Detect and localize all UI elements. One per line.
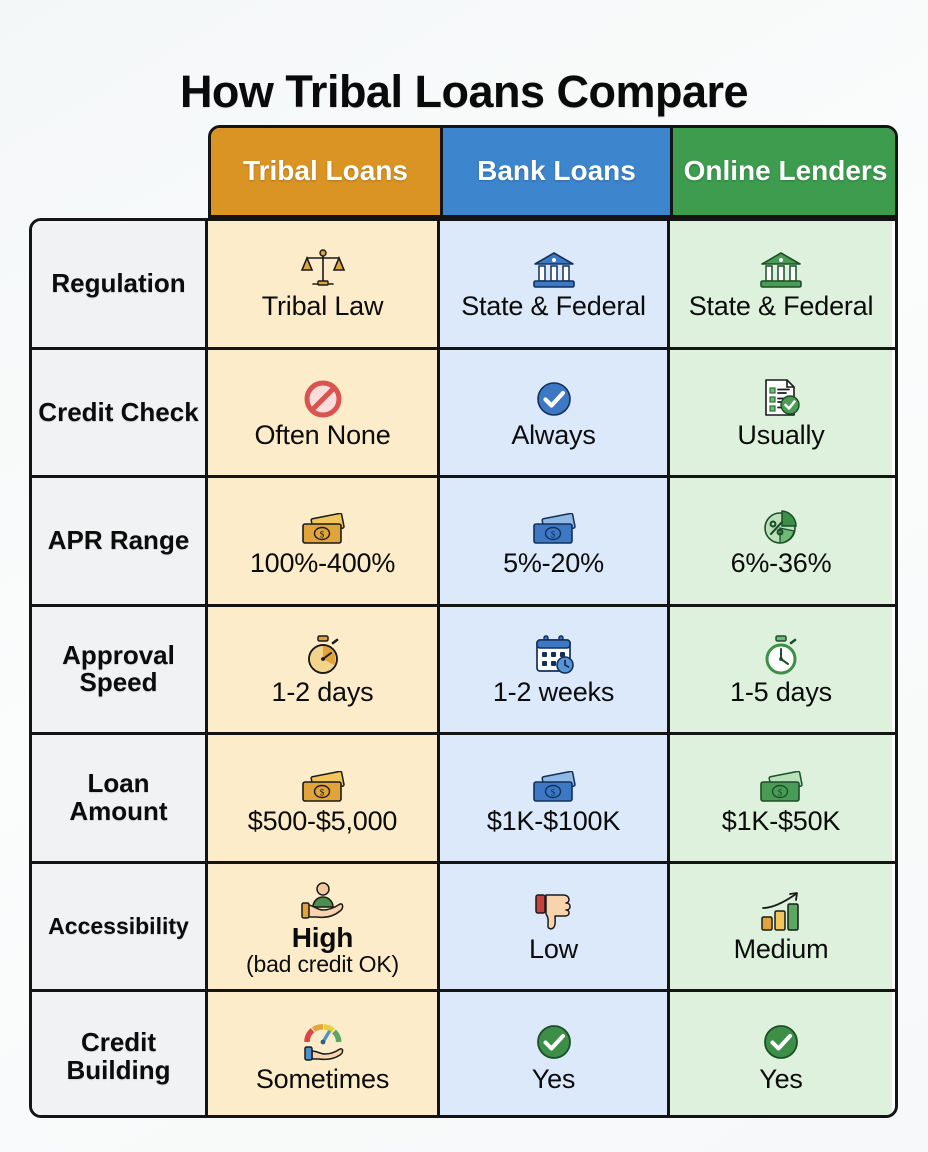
- row-label-text: Approval Speed: [37, 642, 200, 697]
- bank-building-icon: [755, 246, 807, 290]
- row-label-text: Loan Amount: [37, 770, 200, 825]
- prohibited-sign-icon: [297, 375, 349, 419]
- svg-text:$: $: [319, 530, 324, 540]
- table-row: Approval Speed 1-2 days: [32, 607, 895, 736]
- cell-value: Usually: [737, 421, 824, 450]
- cell-credit-check-bank: Always: [437, 350, 667, 476]
- banknotes-icon: $: [297, 503, 349, 547]
- cell-credit-building-tribal: Sometimes: [208, 992, 437, 1118]
- column-header-tribal-loans: Tribal Loans: [211, 128, 440, 215]
- banknotes-icon: $: [528, 761, 580, 805]
- row-label-text: Accessibility: [48, 914, 189, 938]
- page-title: How Tribal Loans Compare: [0, 66, 928, 118]
- cell-value: $1K-$100K: [487, 807, 620, 836]
- cell-regulation-bank: State & Federal: [437, 221, 667, 347]
- cell-value: Always: [511, 421, 595, 450]
- cell-value: Low: [529, 935, 578, 964]
- cell-value: High: [292, 923, 353, 953]
- cell-credit-building-online: Yes: [667, 992, 892, 1118]
- cell-value: 1-2 weeks: [493, 678, 614, 707]
- cell-regulation-tribal: Tribal Law: [208, 221, 437, 347]
- cell-credit-check-online: Usually: [667, 350, 892, 476]
- banknotes-icon: $: [297, 761, 349, 805]
- table-row: Loan Amount $ $500-$5,000: [32, 735, 895, 864]
- cell-approval-speed-online: 1-5 days: [667, 607, 892, 733]
- svg-text:$: $: [778, 787, 783, 797]
- bank-building-icon: [528, 246, 580, 290]
- cell-loan-amount-tribal: $ $500-$5,000: [208, 735, 437, 861]
- calendar-clock-icon: [528, 632, 580, 676]
- cell-accessibility-tribal: High (bad credit OK): [208, 864, 437, 990]
- banknotes-icon: $: [528, 503, 580, 547]
- cell-value: Yes: [759, 1065, 802, 1094]
- percent-pie-chart-icon: [755, 503, 807, 547]
- cell-value: 5%-20%: [503, 549, 604, 578]
- row-label-credit-building: Credit Building: [32, 992, 208, 1118]
- comparison-table: Tribal Loans Bank Loans Online Lenders R…: [29, 125, 898, 1118]
- cell-apr-range-online: 6%-36%: [667, 478, 892, 604]
- table-row: Regulation: [32, 221, 895, 350]
- column-header-label: Bank Loans: [477, 156, 636, 186]
- cell-value: State & Federal: [461, 292, 646, 321]
- cell-value-sub: (bad credit OK): [246, 952, 399, 977]
- column-header-label: Online Lenders: [684, 156, 888, 186]
- cell-approval-speed-bank: 1-2 weeks: [437, 607, 667, 733]
- row-label-loan-amount: Loan Amount: [32, 735, 208, 861]
- check-circle-filled-icon: [755, 1019, 807, 1063]
- cell-credit-check-tribal: Often None: [208, 350, 437, 476]
- table-row: APR Range $ 100%-400%: [32, 478, 895, 607]
- cell-loan-amount-online: $ $1K-$50K: [667, 735, 892, 861]
- check-circle-icon: [528, 375, 580, 419]
- cell-value: 100%-400%: [250, 549, 395, 578]
- cell-accessibility-bank: Low: [437, 864, 667, 990]
- cell-value: Yes: [532, 1065, 575, 1094]
- cell-value: 1-5 days: [730, 678, 832, 707]
- column-header-online-lenders: Online Lenders: [670, 128, 898, 215]
- cell-accessibility-online: Medium: [667, 864, 892, 990]
- svg-text:$: $: [319, 787, 324, 797]
- hand-holding-person-icon: [297, 877, 349, 921]
- row-label-text: Credit Building: [37, 1029, 200, 1084]
- cell-approval-speed-tribal: 1-2 days: [208, 607, 437, 733]
- scales-of-justice-icon: [297, 246, 349, 290]
- checklist-document-icon: [755, 375, 807, 419]
- thumbs-down-icon: [528, 889, 580, 933]
- row-label-text: Credit Check: [38, 399, 198, 427]
- svg-text:$: $: [550, 530, 555, 540]
- row-label-text: Regulation: [51, 270, 185, 298]
- cell-value: Medium: [734, 935, 829, 964]
- table-header-row: Tribal Loans Bank Loans Online Lenders: [208, 125, 898, 218]
- cell-value: $500-$5,000: [248, 807, 397, 836]
- cell-loan-amount-bank: $ $1K-$100K: [437, 735, 667, 861]
- stopwatch-icon: [297, 632, 349, 676]
- row-label-approval-speed: Approval Speed: [32, 607, 208, 733]
- table-row: Credit Building: [32, 992, 895, 1118]
- cell-value: 6%-36%: [731, 549, 832, 578]
- row-label-accessibility: Accessibility: [32, 864, 208, 990]
- row-label-credit-check: Credit Check: [32, 350, 208, 476]
- cell-value: Sometimes: [256, 1065, 389, 1094]
- cell-apr-range-bank: $ 5%-20%: [437, 478, 667, 604]
- credit-score-gauge-icon: [297, 1019, 349, 1063]
- cell-credit-building-bank: Yes: [437, 992, 667, 1118]
- table-body: Regulation: [29, 218, 898, 1118]
- cell-regulation-online: State & Federal: [667, 221, 892, 347]
- table-row: Accessibility High (bad credit OK): [32, 864, 895, 993]
- column-header-bank-loans: Bank Loans: [440, 128, 670, 215]
- table-row: Credit Check Often None: [32, 350, 895, 479]
- cell-value: State & Federal: [689, 292, 874, 321]
- cell-apr-range-tribal: $ 100%-400%: [208, 478, 437, 604]
- cell-value: $1K-$50K: [722, 807, 841, 836]
- row-label-regulation: Regulation: [32, 221, 208, 347]
- check-circle-filled-icon: [528, 1019, 580, 1063]
- row-label-apr-range: APR Range: [32, 478, 208, 604]
- row-label-text: APR Range: [48, 527, 190, 555]
- column-header-label: Tribal Loans: [243, 156, 408, 186]
- growth-bar-chart-icon: [755, 889, 807, 933]
- svg-text:$: $: [550, 787, 555, 797]
- stopwatch-icon: [755, 632, 807, 676]
- cell-value: Often None: [254, 421, 390, 450]
- cell-value: Tribal Law: [262, 292, 384, 321]
- banknotes-icon: $: [755, 761, 807, 805]
- cell-value: 1-2 days: [272, 678, 374, 707]
